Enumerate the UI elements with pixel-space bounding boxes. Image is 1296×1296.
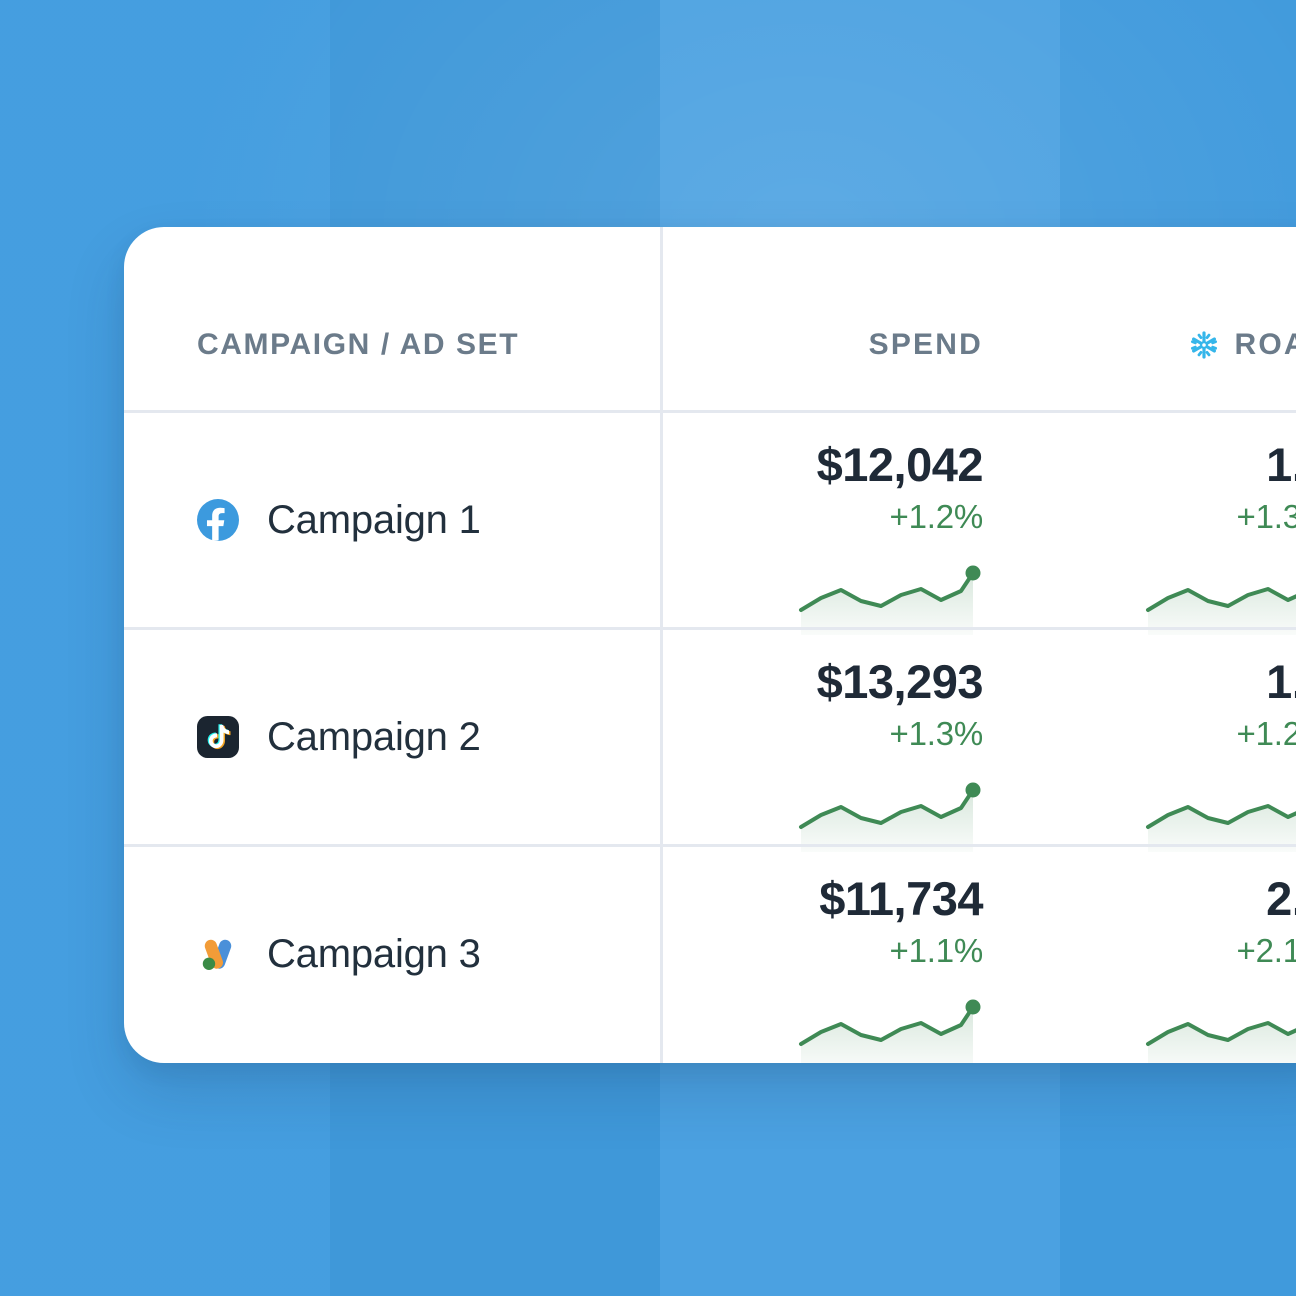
facebook-icon bbox=[197, 499, 239, 541]
spend-sparkline bbox=[797, 782, 983, 852]
spend-value: $11,734 bbox=[819, 875, 983, 922]
spend-metric: $11,734 +1.1% bbox=[819, 875, 983, 967]
roas-metric: 1.4 +1.2% bbox=[1237, 658, 1296, 750]
spend-value: $12,042 bbox=[817, 441, 983, 488]
metrics-table-card: CAMPAIGN / AD SET SPEND bbox=[124, 227, 1296, 1063]
row-campaign-cell: Campaign 3 bbox=[124, 847, 660, 1061]
row-campaign-cell: Campaign 1 bbox=[124, 413, 660, 627]
roas-sparkline bbox=[1144, 999, 1296, 1063]
roas-sparkline bbox=[1144, 782, 1296, 852]
table-row[interactable]: Campaign 2 $13,293 +1.3% bbox=[124, 627, 1296, 844]
roas-value: 2.3 bbox=[1237, 875, 1296, 922]
roas-metric: 2.3 +2.1% bbox=[1237, 875, 1296, 967]
spend-delta: +1.3% bbox=[817, 717, 983, 750]
spend-delta: +1.2% bbox=[817, 500, 983, 533]
row-roas-cell: 2.3 +2.1% bbox=[1007, 847, 1296, 1061]
table-row[interactable]: Campaign 3 $11,734 +1.1% bbox=[124, 844, 1296, 1061]
screenshot-root: CAMPAIGN / AD SET SPEND bbox=[0, 0, 1296, 1296]
campaign-name: Campaign 3 bbox=[267, 932, 481, 977]
campaign-name: Campaign 2 bbox=[267, 715, 481, 760]
campaign-metrics-table: CAMPAIGN / AD SET SPEND bbox=[124, 227, 1296, 1063]
row-roas-cell: 1.5 +1.3% bbox=[1007, 413, 1296, 627]
tiktok-icon bbox=[197, 716, 239, 758]
roas-delta: +1.3% bbox=[1237, 500, 1296, 533]
spend-value: $13,293 bbox=[817, 658, 983, 705]
row-spend-cell: $13,293 +1.3% bbox=[660, 630, 1007, 844]
header-label-campaign: CAMPAIGN / AD SET bbox=[197, 328, 519, 362]
campaign-name: Campaign 1 bbox=[267, 498, 481, 543]
roas-value: 1.4 bbox=[1237, 658, 1296, 705]
table-header-row: CAMPAIGN / AD SET SPEND bbox=[124, 227, 1296, 410]
roas-sparkline bbox=[1144, 565, 1296, 635]
roas-delta: +1.2% bbox=[1237, 717, 1296, 750]
row-spend-cell: $11,734 +1.1% bbox=[660, 847, 1007, 1061]
row-roas-cell: 1.4 +1.2% bbox=[1007, 630, 1296, 844]
spend-metric: $13,293 +1.3% bbox=[817, 658, 983, 750]
row-spend-cell: $12,042 +1.2% bbox=[660, 413, 1007, 627]
header-cell-spend[interactable]: SPEND bbox=[660, 227, 1007, 410]
header-label-spend: SPEND bbox=[869, 328, 983, 362]
roas-delta: +2.1% bbox=[1237, 934, 1296, 967]
spend-metric: $12,042 +1.2% bbox=[817, 441, 983, 533]
google-ads-icon bbox=[197, 933, 239, 975]
roas-value: 1.5 bbox=[1237, 441, 1296, 488]
header-cell-campaign[interactable]: CAMPAIGN / AD SET bbox=[124, 227, 660, 410]
table-row[interactable]: Campaign 1 $12,042 +1.2% bbox=[124, 410, 1296, 627]
header-label-roas: ROAS bbox=[1235, 328, 1296, 362]
spend-delta: +1.1% bbox=[819, 934, 983, 967]
spend-sparkline bbox=[797, 565, 983, 635]
spend-sparkline bbox=[797, 999, 983, 1063]
row-campaign-cell: Campaign 2 bbox=[124, 630, 660, 844]
header-cell-roas[interactable]: ROAS bbox=[1007, 227, 1296, 410]
roas-metric: 1.5 +1.3% bbox=[1237, 441, 1296, 533]
snowflake-icon bbox=[1189, 330, 1219, 360]
